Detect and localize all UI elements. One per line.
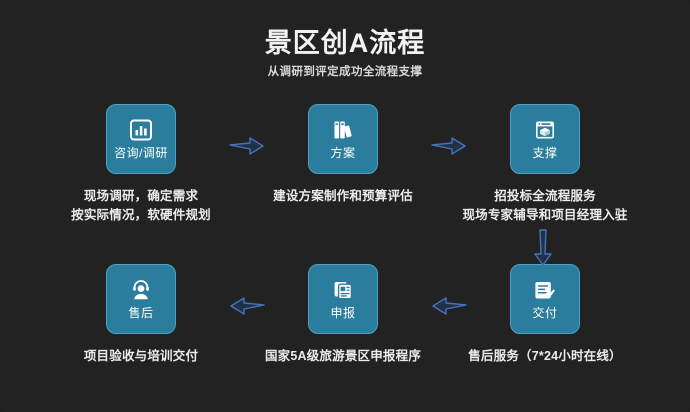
flow-card-label: 方案	[330, 146, 355, 161]
desc-line: 现场调研，确定需求	[41, 187, 241, 206]
flow-step-description: 建设方案制作和预算评估	[243, 187, 443, 206]
bar-chart-icon	[128, 117, 154, 143]
flow-card-consult[interactable]: 咨询/调研	[106, 104, 176, 174]
flow-step-plan[interactable]: 方案 建设方案制作和预算评估	[243, 104, 443, 206]
arrow-down-right-icon	[531, 228, 555, 268]
arrow-left-bottom-1-icon	[228, 294, 266, 318]
arrow-right-top-1-icon	[228, 134, 266, 158]
desc-line: 建设方案制作和预算评估	[243, 187, 443, 206]
flow-card-label: 交付	[532, 306, 557, 321]
arrow-left-bottom-2-icon	[430, 294, 468, 318]
page-title: 景区创A流程	[0, 26, 690, 60]
flow-step-consult[interactable]: 咨询/调研 现场调研，确定需求 按实际情况，软硬件规划	[41, 104, 241, 225]
flow-step-description: 项目验收与培训交付	[41, 347, 241, 366]
desc-line: 项目验收与培训交付	[41, 347, 241, 366]
flow-row-bottom: 售后 项目验收与培训交付	[0, 264, 690, 404]
desc-line: 售后服务（7*24小时在线）	[445, 347, 645, 366]
flow-step-description: 售后服务（7*24小时在线）	[445, 347, 645, 366]
flow-card-delivery[interactable]: 交付	[510, 264, 580, 334]
arrow-right-top-2-icon	[430, 134, 468, 158]
flow-step-description: 国家5A级旅游景区申报程序	[243, 347, 443, 366]
flow-step-aftersales[interactable]: 售后 项目验收与培训交付	[41, 264, 241, 366]
books-icon	[330, 117, 356, 143]
flow-card-label: 咨询/调研	[114, 146, 168, 161]
document-check-icon	[532, 277, 558, 303]
desc-line: 招投标全流程服务	[445, 187, 645, 206]
flow-step-delivery[interactable]: 交付 售后服务（7*24小时在线）	[445, 264, 645, 366]
flow-card-label: 售后	[128, 306, 153, 321]
flow-card-support[interactable]: 支撑	[510, 104, 580, 174]
desc-line: 按实际情况，软硬件规划	[41, 206, 241, 225]
flow-step-declaration[interactable]: 申报 国家5A级旅游景区申报程序	[243, 264, 443, 366]
flow-diagram-canvas: 景区创A流程 从调研到评定成功全流程支撑 咨询/调研 现场调研，确定需求 按	[0, 0, 690, 412]
flow-card-declaration[interactable]: 申报	[308, 264, 378, 334]
document-stack-icon	[330, 277, 356, 303]
page-subtitle: 从调研到评定成功全流程支撑	[0, 64, 690, 80]
flow-card-aftersales[interactable]: 售后	[106, 264, 176, 334]
flow-card-label: 申报	[330, 306, 355, 321]
headset-support-icon	[128, 277, 154, 303]
desc-line: 国家5A级旅游景区申报程序	[243, 347, 443, 366]
flow-step-support[interactable]: 支撑 招投标全流程服务 现场专家辅导和项目经理入驻	[445, 104, 645, 225]
desc-line: 现场专家辅导和项目经理入驻	[445, 206, 645, 225]
flow-step-description: 现场调研，确定需求 按实际情况，软硬件规划	[41, 187, 241, 225]
header: 景区创A流程 从调研到评定成功全流程支撑	[0, 26, 690, 80]
flow-step-description: 招投标全流程服务 现场专家辅导和项目经理入驻	[445, 187, 645, 225]
flow-row-top: 咨询/调研 现场调研，确定需求 按实际情况，软硬件规划	[0, 104, 690, 244]
flow-card-label: 支撑	[532, 146, 557, 161]
flow-card-plan[interactable]: 方案	[308, 104, 378, 174]
browser-box-icon	[532, 117, 558, 143]
